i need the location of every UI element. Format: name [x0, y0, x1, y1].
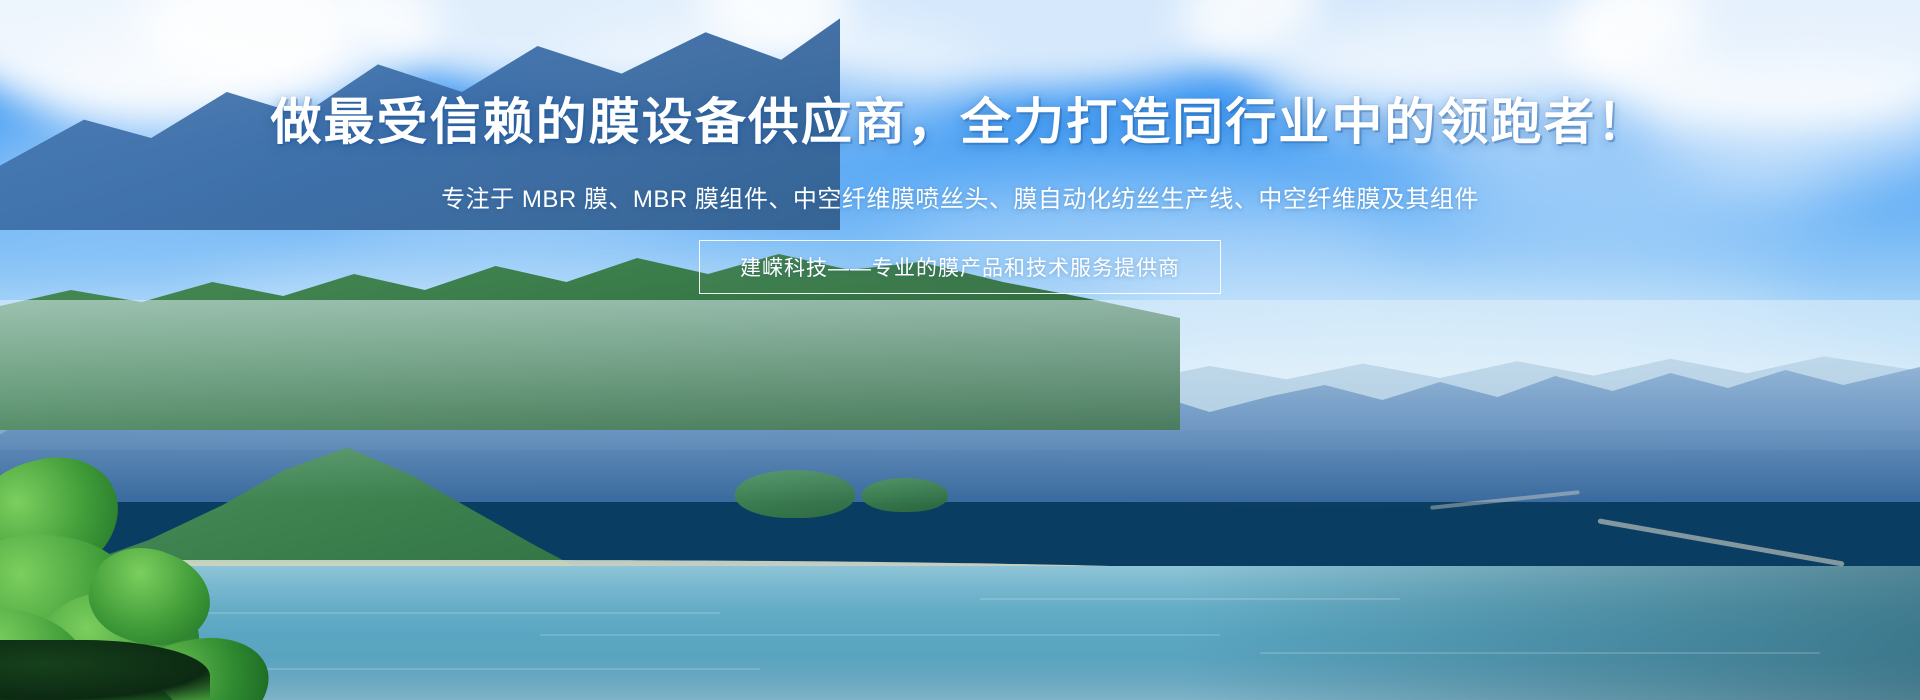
left-forest-hill — [0, 230, 1180, 430]
water-ripple — [540, 634, 1220, 636]
small-island — [735, 470, 855, 518]
water-ripple — [1260, 652, 1820, 654]
hero-banner: 做最受信赖的膜设备供应商，全力打造同行业中的领跑者！ 专注于 MBR 膜、MBR… — [0, 0, 1920, 700]
water-ripple — [980, 598, 1400, 600]
hillside-road — [1597, 518, 1844, 566]
right-blue-massif — [0, 0, 840, 230]
small-island — [862, 478, 948, 512]
landscape-photo — [0, 0, 1920, 700]
water-shadow-right — [1180, 566, 1920, 700]
